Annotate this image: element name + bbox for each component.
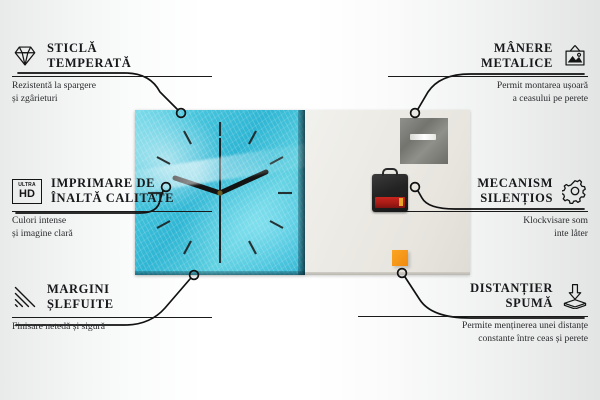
- mechanism-hook: [382, 168, 398, 176]
- callout-title: MECANISM SILENȚIOS: [477, 176, 553, 207]
- callout-subtitle: Klockvisare som inte låter: [388, 215, 588, 240]
- callout-divider: [388, 211, 588, 212]
- callout-subtitle: Permite menținerea unei distanțe constan…: [358, 320, 588, 345]
- ultra-hd-icon-small-label: ultra: [18, 183, 36, 188]
- infographic-stage: STICLĂ TEMPERATĂ Rezistentă la spargere …: [0, 0, 600, 400]
- callout-title: MÂNERE METALICE: [481, 41, 553, 72]
- callout-title: IMPRIMARE DE ÎNALTĂ CALITATE: [51, 176, 174, 207]
- callout-title: MARGINI ȘLEFUITE: [47, 282, 114, 313]
- callout-header: MÂNERE METALICE: [388, 41, 588, 72]
- callout-header: MARGINI ȘLEFUITE: [12, 282, 212, 313]
- callout-foam-spacer: DISTANȚIER SPUMĂ Permite menținerea unei…: [358, 281, 588, 345]
- ultra-hd-icon: ultra HD: [12, 179, 42, 204]
- callout-silent-mechanism: MECANISM SILENȚIOS Klockvisare som inte …: [388, 176, 588, 240]
- callout-divider: [12, 317, 212, 318]
- callout-divider: [358, 316, 588, 317]
- gear-icon: [562, 178, 588, 204]
- callout-subtitle: Finisare netedă și sigură: [12, 321, 212, 334]
- callout-subtitle: Permit montarea ușoară a ceasului pe per…: [388, 80, 588, 105]
- callout-polished-edges: MARGINI ȘLEFUITE Finisare netedă și sigu…: [12, 282, 212, 334]
- callout-divider: [12, 211, 212, 212]
- callout-print-quality: ultra HD IMPRIMARE DE ÎNALTĂ CALITATE Cu…: [12, 176, 212, 240]
- hanger-slot: [410, 134, 436, 140]
- callout-subtitle: Culori intense și imagine clară: [12, 215, 212, 240]
- callout-divider: [388, 76, 588, 77]
- ultra-hd-icon-big-label: HD: [19, 189, 35, 200]
- press-down-pad-icon: [562, 283, 588, 309]
- callout-divider: [12, 76, 212, 77]
- diamond-icon: [12, 43, 38, 69]
- callout-tempered-glass: STICLĂ TEMPERATĂ Rezistentă la spargere …: [12, 41, 212, 105]
- callout-title: DISTANȚIER SPUMĂ: [470, 281, 553, 312]
- callout-title: STICLĂ TEMPERATĂ: [47, 41, 131, 72]
- picture-frame-hanger-icon: [562, 43, 588, 69]
- metal-hanger-plate: [400, 118, 448, 164]
- foam-spacer-pad: [392, 250, 408, 266]
- callout-header: ultra HD IMPRIMARE DE ÎNALTĂ CALITATE: [12, 176, 212, 207]
- callout-header: DISTANȚIER SPUMĂ: [358, 281, 588, 312]
- callout-header: STICLĂ TEMPERATĂ: [12, 41, 212, 72]
- polished-edge-icon: [12, 284, 38, 310]
- callout-metal-hangers: MÂNERE METALICE Permit montarea ușoară a…: [388, 41, 588, 105]
- back-panel-bottom-edge: [305, 272, 470, 275]
- callout-header: MECANISM SILENȚIOS: [388, 176, 588, 207]
- callout-subtitle: Rezistentă la spargere și zgârieturi: [12, 80, 212, 105]
